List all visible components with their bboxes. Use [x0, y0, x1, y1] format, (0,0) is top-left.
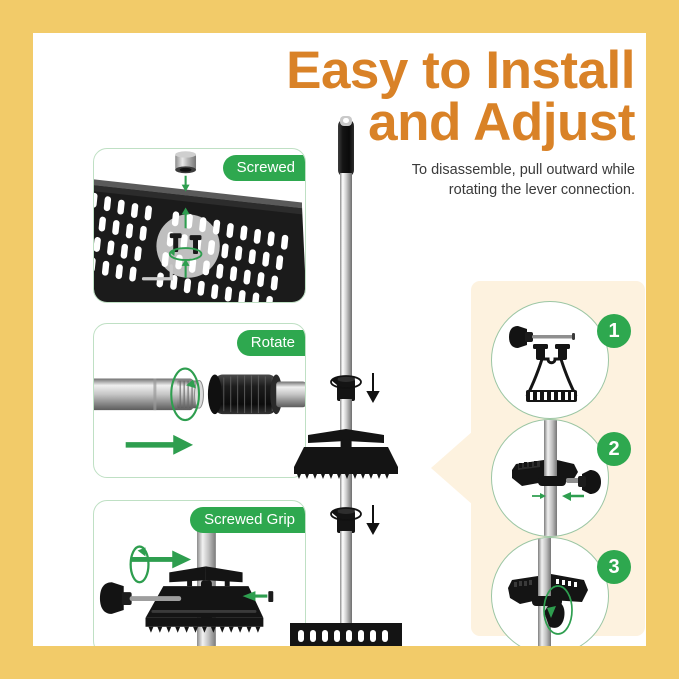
- pole-joint-lower: [331, 505, 378, 533]
- step-number-3: 3: [597, 550, 631, 584]
- pole-handle: [338, 116, 354, 177]
- pole-grip-clamp: [294, 429, 398, 479]
- step-inset-2: [491, 419, 609, 537]
- pole-assembly-illustration: [276, 111, 436, 646]
- instruction-panel-screwed-grip: Screwed Grip: [93, 500, 306, 646]
- page-title-line-1: Easy to Install: [265, 45, 635, 97]
- panel-badge-screwed: Screwed: [223, 155, 306, 181]
- step-inset-1: [491, 301, 609, 419]
- clamp-on-pole-tighten-illustration: [492, 420, 609, 537]
- pole-assembly: [276, 111, 436, 646]
- pole-joint-upper: [331, 373, 378, 401]
- clamp-lever-rotate-illustration: [492, 538, 609, 646]
- rake-head: [290, 623, 402, 646]
- instruction-panel-rotate: Rotate: [93, 323, 306, 478]
- step-inset-3: [491, 537, 609, 646]
- step-number-2: 2: [597, 432, 631, 466]
- content-frame: Easy to Install and Adjust To disassembl…: [33, 33, 646, 646]
- panel-badge-screwed-grip: Screwed Grip: [190, 507, 306, 533]
- instruction-panel-screwed: Screwed: [93, 148, 306, 303]
- knob-and-clamp-body-illustration: [492, 302, 609, 419]
- panel-badge-rotate: Rotate: [237, 330, 306, 356]
- step-number-1: 1: [597, 314, 631, 348]
- callout-arrow: [431, 431, 473, 505]
- numbered-steps-panel: 1: [471, 281, 645, 636]
